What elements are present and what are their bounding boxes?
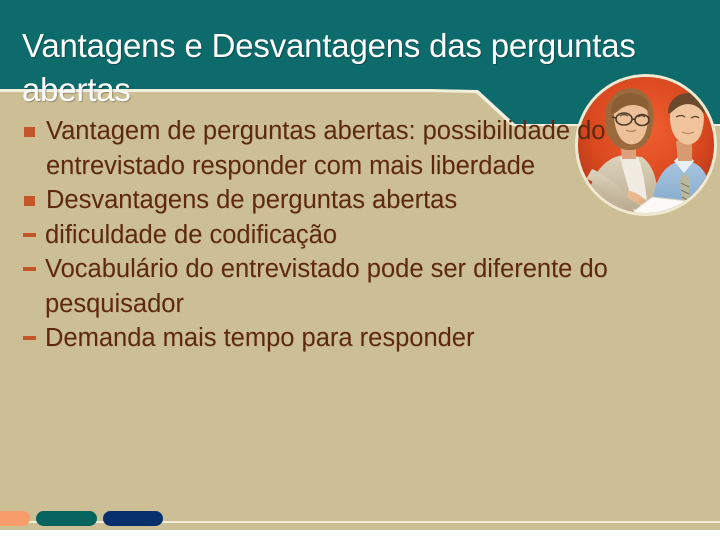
list-item-label: Desvantagens de perguntas abertas [46, 183, 698, 218]
slide-title: Vantagens e Desvantagens das perguntas a… [22, 24, 682, 112]
presentation-slide: Vantagens e Desvantagens das perguntas a… [0, 0, 720, 540]
dash-bullet-icon [23, 233, 36, 237]
footer-bar-navy [103, 511, 163, 526]
list-item-label: Vantagem de perguntas abertas: possibili… [46, 114, 698, 183]
dash-bullet-icon [23, 336, 36, 340]
footer-white-strip [0, 530, 720, 540]
list-item: Demanda mais tempo para responder [22, 321, 698, 356]
dash-bullet-icon [23, 267, 36, 271]
list-item-label: dificuldade de codificação [45, 218, 698, 253]
list-item: Desvantagens de perguntas abertas [22, 183, 698, 218]
square-bullet-icon [24, 196, 35, 206]
footer-bar-teal [36, 511, 97, 526]
list-item-label: Vocabulário do entrevistado pode ser dif… [45, 252, 698, 321]
slide-content-list: Vantagem de perguntas abertas: possibili… [22, 114, 698, 356]
list-item: Vantagem de perguntas abertas: possibili… [22, 114, 698, 183]
list-item: dificuldade de codificação [22, 218, 698, 253]
square-bullet-icon [24, 127, 35, 137]
footer-decor-bars [0, 511, 163, 526]
footer-bar-orange [0, 511, 30, 526]
list-item: Vocabulário do entrevistado pode ser dif… [22, 252, 698, 321]
list-item-label: Demanda mais tempo para responder [45, 321, 698, 356]
